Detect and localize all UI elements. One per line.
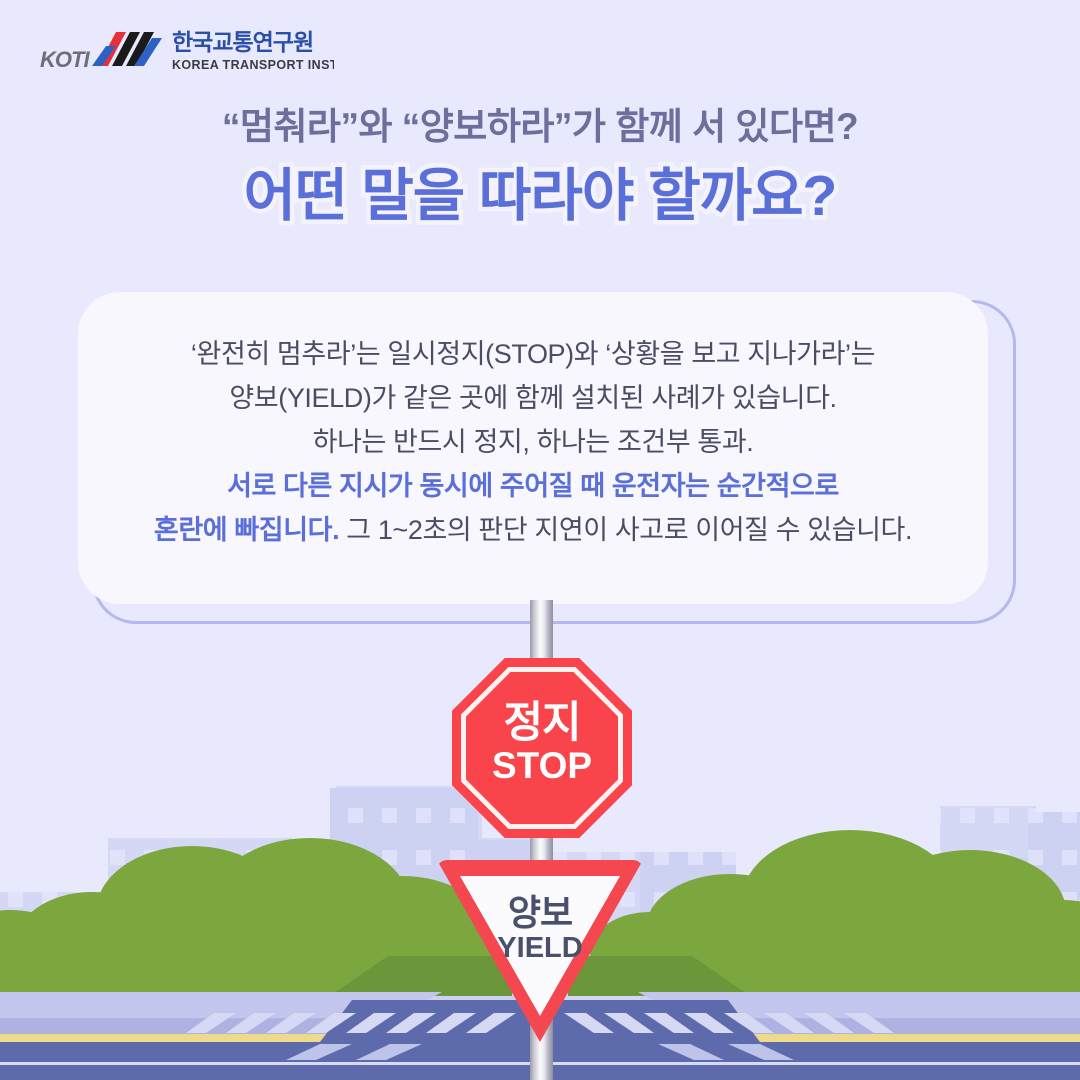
info-card: ‘완전히 멈추라’는 일시정지(STOP)와 ‘상황을 보고 지나가라’는 양보… [78,292,988,604]
logo-mark: KOTI [40,47,90,72]
headline-block: “멈춰라”와 “양보하라”가 함께 서 있다면? 어떤 말을 따라야 할까요? [0,104,1080,231]
koti-logo: KOTI 한국교통연구원 KOREA TRANSPORT INSTITUTE [34,20,334,78]
logo-name-en: KOREA TRANSPORT INSTITUTE [172,58,334,72]
headline-line-2: 어떤 말을 따라야 할까요? [0,162,1080,230]
card-body: ‘완전히 멈추라’는 일시정지(STOP)와 ‘상황을 보고 지나가라’는 양보… [78,332,988,552]
card-line-5-rest: 그 1~2초의 판단 지연이 사고로 이어질 수 있습니다. [339,515,912,545]
card-line-2: 양보(YIELD)가 같은 곳에 함께 설치된 사례가 있습니다. [78,376,988,420]
headline-line-1: “멈춰라”와 “양보하라”가 함께 서 있다면? [0,104,1080,150]
card-line-4: 서로 다른 지시가 동시에 주어질 때 운전자는 순간적으로 [78,464,988,508]
yield-sign: 양보 YIELD [437,860,643,1042]
card-line-3: 하나는 반드시 정지, 하나는 조건부 통과. [78,420,988,464]
card-line-5: 혼란에 빠집니다. 그 1~2초의 판단 지연이 사고로 이어질 수 있습니다. [78,508,988,552]
stop-sign-label: 정지 STOP [452,700,632,786]
yield-label-en: YIELD [437,932,643,964]
card-line-4-emphasis: 서로 다른 지시가 동시에 주어질 때 운전자는 순간적으로 [227,471,839,501]
stop-label-ko: 정지 [452,700,632,746]
yield-sign-label: 양보 YIELD [437,894,643,964]
yield-label-ko: 양보 [437,894,643,932]
stop-label-en: STOP [452,746,632,786]
logo-slashes [92,32,162,66]
card-line-5-emphasis: 혼란에 빠집니다. [154,515,339,545]
stop-sign: 정지 STOP [452,658,632,838]
logo-name-ko: 한국교통연구원 [172,29,313,55]
poster-canvas: KOTI 한국교통연구원 KOREA TRANSPORT INSTITUTE “… [0,0,1080,1080]
card-line-1: ‘완전히 멈추라’는 일시정지(STOP)와 ‘상황을 보고 지나가라’는 [78,332,988,376]
